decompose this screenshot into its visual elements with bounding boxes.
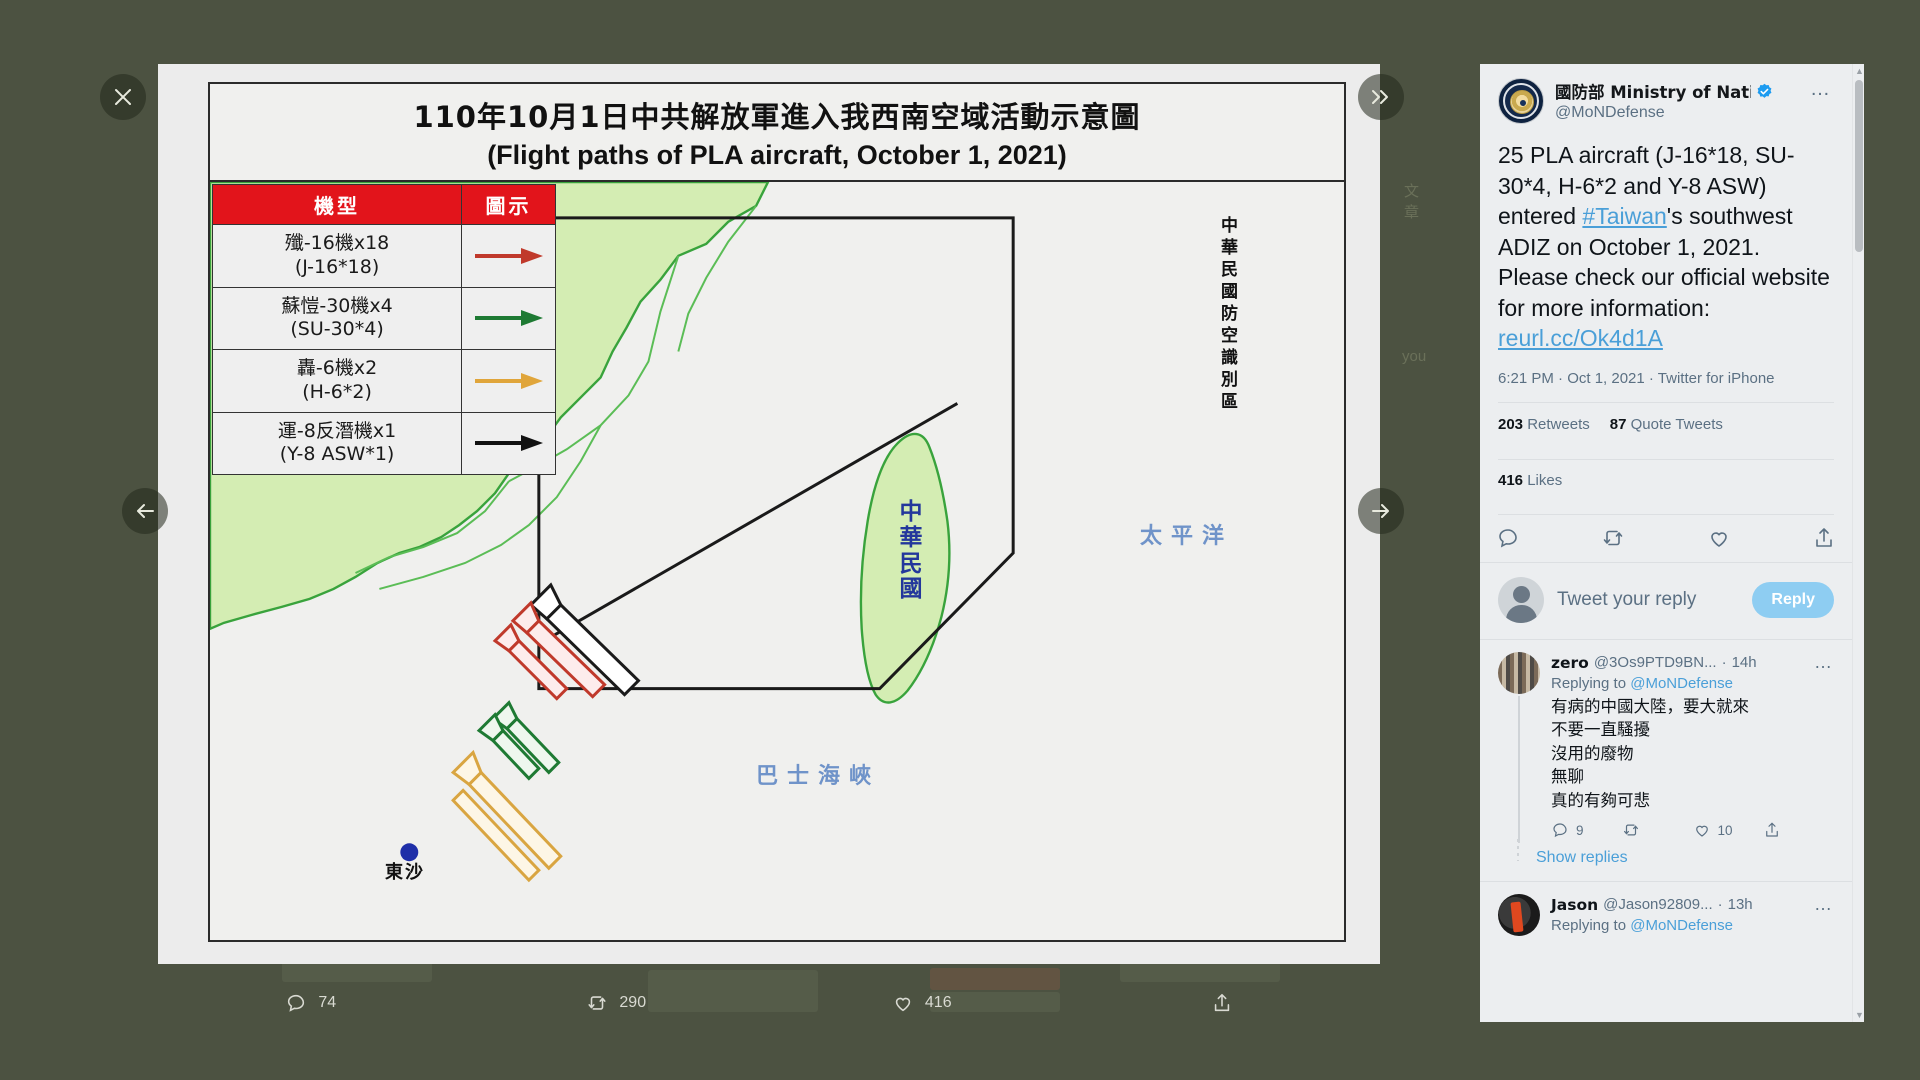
comment-action-row: 9 10 — [1551, 821, 1834, 839]
retweet-icon — [586, 992, 608, 1014]
viewer-reply-count: 74 — [318, 994, 336, 1012]
map-title-block: 110年10月1日中共解放軍進入我西南空域活動示意圖 (Flight paths… — [210, 84, 1344, 182]
replying-handle[interactable]: @MoNDefense — [1630, 917, 1733, 934]
adiz-label: 中華民國防空識別區 — [1215, 216, 1240, 414]
legend-aircraft-name: 蘇愷-30機x4(SU-30*4) — [213, 287, 462, 350]
legend-header-row: 機型 圖示 — [213, 185, 556, 225]
share-icon — [1812, 526, 1836, 550]
viewer-like-count: 416 — [925, 994, 952, 1012]
image-stage: 110年10月1日中共解放軍進入我西南空域活動示意圖 (Flight paths… — [158, 64, 1380, 964]
scroll-up-arrow-icon[interactable]: ▲ — [1855, 66, 1863, 76]
arrow-icon — [473, 246, 545, 266]
tweet-scroll-area: 國防部 Ministry of Nation @MoNDefense … 25 … — [1480, 64, 1852, 1022]
legend-row: 蘇愷-30機x4(SU-30*4) — [213, 287, 556, 350]
tweet-timestamp-meta: 6:21 PM · Oct 1, 2021 · Twitter for iPho… — [1498, 368, 1834, 389]
legend-name-en: (Y-8 ASW*1) — [217, 443, 457, 467]
retweets-stat[interactable]: 203 Retweets — [1498, 416, 1590, 433]
close-button[interactable] — [100, 74, 146, 120]
comment-item: Jason @Jason92809... · 13h … Replying to… — [1480, 882, 1852, 940]
background-ghost-text-2: you — [1402, 348, 1426, 365]
close-icon — [114, 88, 132, 106]
comment-item: zero @3Os9PTD9BN... · 14h … Replying to … — [1480, 640, 1852, 843]
legend-name-en: (H-6*2) — [217, 381, 457, 405]
legend-name-cjk: 轟-6機x2 — [217, 357, 457, 381]
quote-tweets-stat[interactable]: 87 Quote Tweets — [1610, 416, 1723, 433]
panel-share-button[interactable] — [1812, 526, 1836, 550]
tweet-author-header: 國防部 Ministry of Nation @MoNDefense … — [1498, 78, 1834, 124]
commenter-handle: @3Os9PTD9BN... — [1594, 654, 1717, 671]
comment-replying-to: Replying to @MoNDefense — [1551, 675, 1834, 692]
arrow-icon — [473, 371, 545, 391]
separator: · — [1718, 896, 1723, 913]
show-replies-link[interactable]: Show replies — [1480, 843, 1852, 881]
background-ghost-text-1: 文章 — [1404, 180, 1424, 222]
taiwan-label: 中華民國 — [898, 500, 926, 603]
map-title-en: (Flight paths of PLA aircraft, October 1… — [487, 140, 1067, 171]
panel-retweet-button[interactable] — [1601, 526, 1625, 550]
panel-like-button[interactable] — [1707, 526, 1731, 550]
replying-handle[interactable]: @MoNDefense — [1630, 675, 1733, 692]
verified-badge-icon — [1756, 83, 1773, 100]
viewer-reply-action[interactable]: 74 — [285, 992, 336, 1014]
legend-aircraft-name: 轟-6機x2(H-6*2) — [213, 350, 462, 413]
tweet-detail-panel: 國防部 Ministry of Nation @MoNDefense … 25 … — [1480, 64, 1864, 1022]
map-title-cjk: 110年10月1日中共解放軍進入我西南空域活動示意圖 — [413, 94, 1140, 136]
legend-name-en: (SU-30*4) — [217, 318, 457, 342]
likes-stat[interactable]: 416 Likes — [1498, 460, 1834, 501]
retweets-count: 203 — [1498, 416, 1523, 433]
likes-count: 416 — [1498, 472, 1523, 489]
tweet-external-link[interactable]: reurl.cc/Ok4d1A — [1498, 325, 1663, 351]
arrow-right-icon — [1371, 502, 1391, 520]
legend-name-cjk: 蘇愷-30機x4 — [217, 295, 457, 319]
reply-submit-button[interactable]: Reply — [1752, 582, 1834, 618]
legend-arrow-symbol — [462, 287, 556, 350]
share-icon — [1763, 821, 1781, 839]
commenter-handle: @Jason92809... — [1603, 896, 1712, 913]
legend-row: 運-8反潛機x1(Y-8 ASW*1) — [213, 412, 556, 475]
viewer-retweet-count: 290 — [619, 994, 646, 1012]
arrow-icon — [473, 308, 545, 328]
legend-row: 殲-16機x18(J-16*18) — [213, 225, 556, 288]
legend-arrow-symbol — [462, 225, 556, 288]
photo-viewer: 文章 you 110年10月1日中共解放軍進入我西南空域活動示意圖 (Fligh… — [0, 0, 1424, 1080]
like-icon — [1693, 821, 1711, 839]
comment-more-button[interactable]: … — [1814, 894, 1834, 915]
likes-label: Likes — [1527, 472, 1562, 489]
commenter-avatar[interactable] — [1498, 894, 1540, 936]
comment-retweet-button[interactable] — [1622, 821, 1693, 839]
reply-composer: Tweet your reply Reply — [1480, 563, 1852, 639]
comment-text: 有病的中國大陸，要大就來 不要一直騷擾 沒用的廢物 無聊 真的有夠可悲 — [1551, 695, 1834, 812]
map-figure: 110年10月1日中共解放軍進入我西南空域活動示意圖 (Flight paths… — [208, 82, 1346, 942]
tweet-stats-row: 203 Retweets 87 Quote Tweets — [1498, 403, 1834, 446]
aircraft-legend-table: 機型 圖示 殲-16機x18(J-16*18)蘇愷-30機x4(SU-30*4)… — [212, 184, 556, 475]
legend-name-cjk: 殲-16機x18 — [217, 232, 457, 256]
legend-header-type: 機型 — [213, 185, 462, 225]
separator: · — [1722, 654, 1727, 671]
comment-more-button[interactable]: … — [1814, 652, 1834, 673]
replying-prefix: Replying to — [1551, 917, 1630, 934]
quotes-label: Quote Tweets — [1631, 416, 1723, 433]
like-icon — [892, 992, 914, 1014]
reply-icon — [1551, 821, 1569, 839]
viewer-retweet-action[interactable]: 290 — [586, 992, 646, 1014]
like-icon — [1707, 526, 1731, 550]
reply-input[interactable]: Tweet your reply — [1557, 589, 1739, 611]
legend-arrow-symbol — [462, 350, 556, 413]
commenter-name: Jason — [1551, 896, 1598, 914]
legend-arrow-symbol — [462, 412, 556, 475]
comment-share-button[interactable] — [1763, 821, 1834, 839]
viewer-action-bar: 74 290 416 — [158, 964, 1380, 1042]
scrollbar-thumb[interactable] — [1855, 80, 1863, 252]
thread-line — [1518, 696, 1520, 843]
previous-image-button[interactable] — [122, 488, 168, 534]
chevron-double-right-icon — [1370, 88, 1392, 106]
reply-icon — [1496, 526, 1520, 550]
legend-row: 轟-6機x2(H-6*2) — [213, 350, 556, 413]
pacific-ocean-label: 太平洋 — [1140, 518, 1233, 550]
comment-replying-to: Replying to @MoNDefense — [1551, 917, 1834, 934]
tweet-more-button[interactable]: … — [1808, 78, 1834, 101]
current-user-avatar — [1498, 577, 1544, 623]
comment-time: 13h — [1728, 896, 1753, 913]
retweet-icon — [1622, 821, 1640, 839]
author-avatar[interactable] — [1498, 78, 1544, 124]
panel-reply-button[interactable] — [1496, 526, 1520, 550]
bashi-channel-label: 巴士海峽 — [756, 758, 880, 790]
tweet-action-row — [1480, 515, 1852, 562]
legend-name-en: (J-16*18) — [217, 256, 457, 280]
comment-reply-count: 9 — [1576, 823, 1584, 838]
viewer-share-action[interactable] — [1211, 992, 1244, 1014]
panel-scrollbar[interactable]: ▲ ▼ — [1852, 64, 1864, 1022]
comment-like-count: 10 — [1718, 823, 1733, 838]
tweet-body-text: 25 PLA aircraft (J-16*18, SU-30*4, H-6*2… — [1498, 140, 1834, 354]
comment-like-button[interactable]: 10 — [1693, 821, 1764, 839]
collapse-panel-button[interactable] — [1358, 74, 1404, 120]
legend-aircraft-name: 殲-16機x18(J-16*18) — [213, 225, 462, 288]
quotes-count: 87 — [1610, 416, 1627, 433]
arrow-left-icon — [135, 502, 155, 520]
legend-header-symbol: 圖示 — [462, 185, 556, 225]
share-icon — [1211, 992, 1233, 1014]
author-handle: @MoNDefense — [1555, 104, 1797, 122]
commenter-avatar[interactable] — [1498, 652, 1540, 694]
scroll-down-arrow-icon[interactable]: ▼ — [1855, 1010, 1863, 1020]
tweet-hashtag-taiwan[interactable]: #Taiwan — [1582, 203, 1666, 229]
comment-time: 14h — [1732, 654, 1757, 671]
dongsha-label: 東沙 — [385, 858, 425, 884]
arrow-icon — [473, 433, 545, 453]
reply-icon — [285, 992, 307, 1014]
replying-prefix: Replying to — [1551, 675, 1630, 692]
viewer-like-action[interactable]: 416 — [892, 992, 952, 1014]
retweet-icon — [1601, 526, 1625, 550]
retweets-label: Retweets — [1527, 416, 1590, 433]
comment-reply-button[interactable]: 9 — [1551, 821, 1622, 839]
legend-name-cjk: 運-8反潛機x1 — [217, 420, 457, 444]
author-display-name: 國防部 Ministry of Nation — [1555, 79, 1751, 103]
next-image-button[interactable] — [1358, 488, 1404, 534]
legend-aircraft-name: 運-8反潛機x1(Y-8 ASW*1) — [213, 412, 462, 475]
commenter-name: zero — [1551, 654, 1589, 672]
